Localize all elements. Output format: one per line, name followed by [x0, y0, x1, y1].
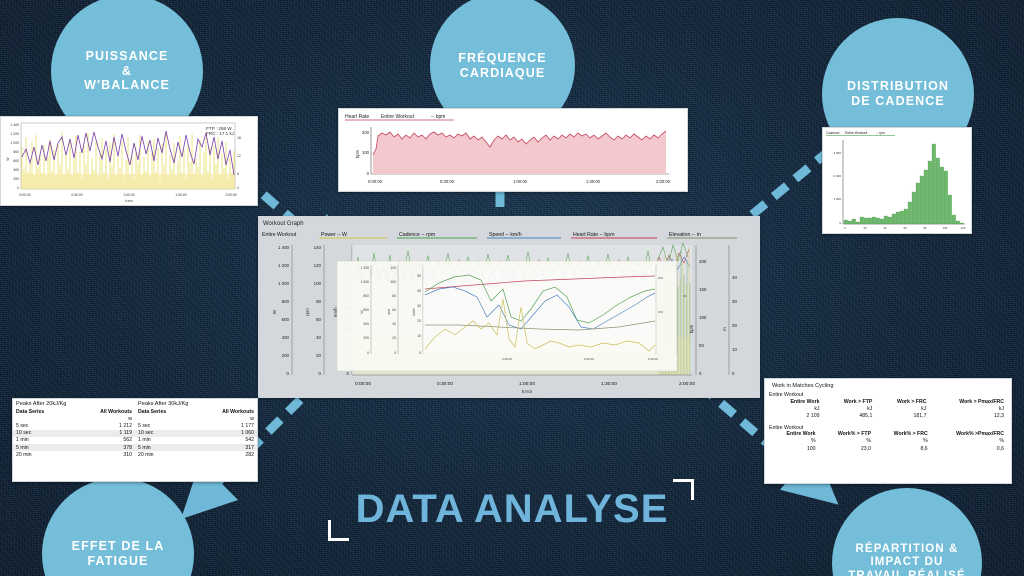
workout-graph-chart: Workout Graph Entire Workout Power -- W … [259, 217, 759, 397]
peaks-table-30kj: Peaks After 30kJ/Kg Data Series All Work… [135, 399, 257, 481]
svg-text:120: 120 [961, 226, 966, 230]
bubble-cadence-line-1: DISTRIBUTION [839, 79, 957, 94]
table-row: 5 sec1 177 [135, 422, 257, 429]
peaks-30-r1-label: 10 sec [135, 430, 193, 437]
svg-text:0: 0 [419, 351, 421, 355]
mt1-v2: 181,7 [875, 412, 929, 419]
page-title-text: DATA ANALYSE [356, 487, 669, 532]
mt2-u1: % [819, 438, 874, 445]
svg-text:40: 40 [316, 335, 321, 340]
mt1-h1: Work > FTP [823, 398, 876, 405]
svg-text:rpm: rpm [387, 309, 391, 315]
svg-text:200: 200 [362, 130, 370, 135]
svg-text:10: 10 [732, 347, 737, 352]
svg-text:100: 100 [362, 150, 370, 155]
mt2-h0: Entire Work [769, 431, 819, 438]
table-row: 20 min310 [13, 451, 135, 458]
svg-text:30: 30 [683, 294, 687, 298]
mt1-u0: kJ [769, 405, 823, 412]
peaks-30-r0-value: 1 177 [193, 422, 257, 429]
bubble-fc-line-1: FRÉQUENCE [450, 51, 554, 66]
svg-text:bpm: bpm [689, 324, 694, 333]
svg-text:0:28:00: 0:28:00 [502, 357, 512, 361]
svg-text:0: 0 [394, 351, 396, 355]
svg-text:200: 200 [282, 353, 290, 358]
svg-text:200: 200 [658, 276, 663, 280]
svg-text:6: 6 [237, 172, 239, 176]
svg-text:h:m:s: h:m:s [125, 199, 133, 203]
cadence-unit: -- rpm [876, 131, 885, 135]
cadence-histogram-chart: Cadence Entire Workout -- rpm 3 0002 000… [823, 128, 971, 233]
svg-text:600: 600 [363, 308, 369, 312]
mt1-h2: Work > FRC [875, 398, 929, 405]
svg-text:800: 800 [13, 150, 19, 154]
mt2-h3: Work% >Pmax/FRC [931, 431, 1007, 438]
svg-text:1:00:00: 1:00:00 [519, 381, 535, 387]
peaks-30-r3-label: 5 min [135, 444, 193, 451]
table-row: 5 min378 [13, 444, 135, 451]
svg-text:rpm: rpm [305, 308, 310, 316]
mt1-v1: 485,1 [823, 412, 876, 419]
svg-text:0: 0 [17, 186, 19, 190]
svg-text:m: m [722, 327, 727, 331]
mt2-u3: % [931, 438, 1007, 445]
bracket-top-right-icon [673, 479, 694, 500]
mt1-h0: Entire Work [769, 398, 823, 405]
panel-workout-graph[interactable]: Workout Graph Entire Workout Power -- W … [258, 216, 760, 398]
svg-text:40: 40 [417, 289, 421, 293]
svg-text:2:00:00: 2:00:00 [225, 193, 236, 197]
mt2-h2: Work% > FRC [874, 431, 931, 438]
svg-text:400: 400 [13, 168, 19, 172]
svg-text:1 000: 1 000 [11, 141, 20, 145]
bubble-fatigue-line-1: EFFET DE LA [64, 539, 173, 554]
svg-text:10: 10 [417, 334, 421, 338]
peaks-30-r4-value: 282 [193, 451, 257, 458]
svg-text:1:00:00: 1:00:00 [513, 179, 528, 184]
peaks-20-caption: Peaks After 20kJ/Kg [13, 399, 135, 408]
mt1-u1: kJ [823, 405, 876, 412]
peaks-30-unit: w [193, 415, 257, 422]
wg-title: Workout Graph [263, 221, 304, 227]
bubble-repartition-line-3: TRAVAIL RÉALISÉ [840, 570, 973, 576]
peaks-20-h1: Data Series [13, 408, 71, 415]
peaks-30-h1: Data Series [135, 408, 193, 415]
hr-unit: -- bpm [431, 114, 445, 120]
svg-text:80: 80 [316, 299, 321, 304]
peaks-20-r0-value: 1 212 [71, 422, 135, 429]
matches-caption: Work in Matches Cycling [769, 381, 1007, 390]
svg-text:800: 800 [363, 294, 369, 298]
hr-scope: Entire Workout [381, 114, 415, 120]
peaks-20-h2: All Workouts [71, 408, 135, 415]
svg-text:60: 60 [392, 308, 396, 312]
wg-legend-hr: Heart Rate -- bpm [573, 232, 615, 238]
wg-legend-speed: Speed -- km/h [489, 232, 522, 238]
peaks-table-20kj: Peaks After 20kJ/Kg Data Series All Work… [13, 399, 135, 481]
matches-block-2: Entire Work Work% > FTP Work% > FRC Work… [769, 431, 1007, 453]
svg-text:40: 40 [732, 275, 737, 280]
mt1-u3: kJ [929, 405, 1007, 412]
panel-power-wbalance[interactable]: FTP : 268 W FRC : 17.1 kJ 1 4001 200 1 0… [0, 116, 258, 206]
peaks-30-r0-label: 5 sec [135, 422, 193, 429]
svg-text:20: 20 [417, 319, 421, 323]
svg-text:0:00:00: 0:00:00 [355, 381, 371, 387]
peaks-20-unit: w [71, 415, 135, 422]
peaks-20-r4-value: 310 [71, 451, 135, 458]
mt1-v0: 2 109 [769, 412, 823, 419]
svg-text:1 400: 1 400 [278, 245, 290, 250]
svg-text:40: 40 [883, 226, 887, 230]
wg-legend-power: Power -- W [321, 232, 347, 238]
bubble-fc-line-2: CARDIAQUE [450, 66, 554, 81]
svg-text:18: 18 [237, 136, 241, 140]
peaks-30-caption: Peaks After 30kJ/Kg [135, 399, 257, 408]
svg-text:140: 140 [314, 245, 322, 250]
cadence-scope: Entire Workout [845, 131, 867, 135]
bubble-fatigue-line-2: FATIGUE [64, 554, 173, 569]
mt1-u2: kJ [875, 405, 929, 412]
svg-text:200: 200 [699, 259, 707, 264]
svg-text:2:00:00: 2:00:00 [679, 381, 695, 387]
svg-text:50: 50 [699, 343, 704, 348]
peaks-30-h2: All Workouts [193, 408, 257, 415]
svg-text:2:00:00: 2:00:00 [656, 179, 671, 184]
svg-text:0:30:00: 0:30:00 [440, 179, 455, 184]
svg-text:60: 60 [316, 317, 321, 322]
svg-text:50: 50 [417, 274, 421, 278]
bracket-bottom-left-icon [328, 520, 349, 541]
svg-text:12: 12 [237, 154, 241, 158]
svg-text:3 000: 3 000 [833, 151, 841, 155]
bubble-puissance-line-2: & [76, 64, 178, 79]
svg-text:20: 20 [732, 323, 737, 328]
peaks-30-r1-value: 1 060 [193, 430, 257, 437]
svg-text:0:29:00: 0:29:00 [648, 357, 658, 361]
page-title: DATA ANALYSE [336, 481, 688, 537]
svg-text:1:30:00: 1:30:00 [175, 193, 186, 197]
svg-text:60: 60 [903, 226, 907, 230]
peaks-20-r3-label: 5 min [13, 444, 71, 451]
peaks-20-r3-value: 378 [71, 444, 135, 451]
svg-text:80: 80 [392, 294, 396, 298]
svg-text:30: 30 [417, 304, 421, 308]
svg-text:120: 120 [314, 263, 322, 268]
mt2-v2: 8,6 [874, 445, 931, 452]
svg-text:100: 100 [390, 280, 396, 284]
svg-text:120: 120 [390, 266, 396, 270]
svg-text:W: W [6, 157, 10, 161]
svg-text:h:m:s: h:m:s [522, 389, 532, 394]
svg-text:0:00:00: 0:00:00 [19, 193, 30, 197]
wg-legend-cadence: Cadence -- rpm [399, 232, 435, 238]
svg-text:100: 100 [943, 226, 948, 230]
panel-peaks-tables[interactable]: Peaks After 20kJ/Kg Data Series All Work… [12, 398, 258, 482]
panel-work-in-matches[interactable]: Work in Matches Cycling Entire Workout E… [764, 378, 1012, 484]
svg-text:0:28:30: 0:28:30 [584, 357, 594, 361]
panel-heart-rate[interactable]: Heart Rate Entire Workout -- bpm 2001000… [338, 108, 688, 192]
svg-text:0: 0 [237, 186, 239, 190]
svg-text:bpm: bpm [355, 149, 360, 158]
svg-text:1 000: 1 000 [278, 281, 290, 286]
table-row: 100 23,0 8,6 0,6 [769, 445, 1007, 452]
svg-text:30: 30 [732, 299, 737, 304]
svg-text:80: 80 [923, 226, 927, 230]
svg-text:1:30:00: 1:30:00 [586, 179, 601, 184]
peaks-20-r4-label: 20 min [13, 451, 71, 458]
svg-text:150: 150 [699, 287, 707, 292]
peaks-30-r2-value: 542 [193, 437, 257, 444]
svg-text:km/h: km/h [412, 308, 416, 315]
bubble-puissance-line-1: PUISSANCE [76, 49, 178, 64]
svg-text:20: 20 [316, 353, 321, 358]
svg-text:1 200: 1 200 [11, 132, 20, 136]
svg-text:800: 800 [282, 299, 290, 304]
table-row: 1 min542 [135, 437, 257, 444]
slide-canvas: PUISSANCE & W'BALANCE FRÉQUENCE CARDIAQU… [0, 0, 1024, 576]
bubble-cadence-line-2: DE CADENCE [839, 94, 957, 109]
wg-scope: Entire Workout [262, 232, 297, 238]
power-wbalance-chart: FTP : 268 W FRC : 17.1 kJ 1 4001 200 1 0… [1, 117, 257, 205]
bubble-repartition-line-1: RÉPARTITION & [840, 543, 973, 557]
peaks-30-r4-label: 20 min [135, 451, 193, 458]
power-annot-2: FRC : 17.1 kJ [206, 131, 234, 136]
peaks-30-r3-value: 317 [193, 444, 257, 451]
peaks-20-r0-label: 5 sec [13, 422, 71, 429]
hr-title: Heart Rate [345, 114, 369, 120]
svg-text:1:00:00: 1:00:00 [123, 193, 134, 197]
peaks-20-r1-value: 1 119 [71, 430, 135, 437]
peaks-20-r2-value: 562 [71, 437, 135, 444]
svg-text:200: 200 [13, 177, 19, 181]
panel-cadence-distribution[interactable]: Cadence Entire Workout -- rpm 3 0002 000… [822, 127, 972, 234]
svg-text:600: 600 [282, 317, 290, 322]
svg-text:100: 100 [699, 315, 707, 320]
mt2-u0: % [769, 438, 819, 445]
svg-text:600: 600 [13, 159, 19, 163]
table-row: 1 min562 [13, 437, 135, 444]
svg-text:400: 400 [363, 322, 369, 326]
peaks-20-r1-label: 10 sec [13, 430, 71, 437]
svg-text:1 000: 1 000 [361, 280, 370, 284]
heart-rate-chart: Heart Rate Entire Workout -- bpm 2001000… [339, 109, 687, 191]
peaks-30-r2-label: 1 min [135, 437, 193, 444]
mt2-h1: Work% > FTP [819, 431, 874, 438]
svg-text:20: 20 [392, 336, 396, 340]
svg-text:1 400: 1 400 [11, 123, 20, 127]
svg-text:1 000: 1 000 [833, 197, 841, 201]
svg-text:2 000: 2 000 [833, 174, 841, 178]
svg-text:1 200: 1 200 [361, 266, 370, 270]
svg-text:0: 0 [367, 351, 369, 355]
svg-text:1:30:00: 1:30:00 [601, 381, 617, 387]
svg-text:0:00:00: 0:00:00 [368, 179, 383, 184]
bubble-puissance-line-3: W'BALANCE [76, 78, 178, 93]
mt2-u2: % [874, 438, 931, 445]
mt2-v0: 100 [769, 445, 819, 452]
wg-inset: 1 2001 000800 600400200 0 W 12010080 604… [337, 261, 687, 371]
table-row: 5 min317 [135, 444, 257, 451]
table-row: 10 sec1 060 [135, 430, 257, 437]
mt1-h3: Work > Pmax/FRC [929, 398, 1007, 405]
bubble-repartition-line-2: IMPACT DU [840, 556, 973, 570]
svg-text:0:30:00: 0:30:00 [71, 193, 82, 197]
svg-text:0:30:00: 0:30:00 [437, 381, 453, 387]
svg-text:20: 20 [863, 226, 867, 230]
svg-text:100: 100 [314, 281, 322, 286]
table-row: 10 sec1 119 [13, 430, 135, 437]
svg-text:40: 40 [392, 322, 396, 326]
matches-block-1: Entire Work Work > FTP Work > FRC Work >… [769, 398, 1007, 420]
mt1-v3: 12,3 [929, 412, 1007, 419]
table-row: 5 sec1 212 [13, 422, 135, 429]
mt2-v1: 23,0 [819, 445, 874, 452]
peaks-20-r2-label: 1 min [13, 437, 71, 444]
svg-text:1 200: 1 200 [278, 263, 290, 268]
table-row: 2 109 485,1 181,7 12,3 [769, 412, 1007, 419]
svg-text:150: 150 [658, 310, 663, 314]
mt2-v3: 0,6 [931, 445, 1007, 452]
svg-text:400: 400 [282, 335, 290, 340]
table-row: 20 min282 [135, 451, 257, 458]
cadence-title: Cadence [826, 131, 840, 135]
wg-legend-elev: Elevation -- m [669, 232, 701, 238]
svg-text:200: 200 [363, 336, 369, 340]
